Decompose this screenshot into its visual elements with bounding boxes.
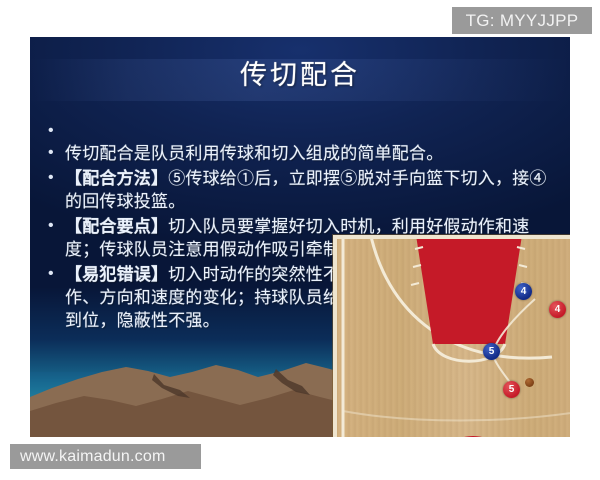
bullet-dot-icon: • <box>48 216 65 231</box>
bullet-text: 传切配合是队员利用传球和切入组成的简单配合。 <box>65 143 556 166</box>
bullet-text: 【配合方法】⑤传球给①后，立即摆⑤脱对手向篮下切入，接④的回传球投篮。 <box>65 168 556 214</box>
site-watermark: www.kaimadun.com <box>10 444 201 469</box>
bullet-dot-icon: • <box>48 264 65 279</box>
bullet-dot-icon: • <box>48 143 65 158</box>
court-markings-icon <box>337 239 570 437</box>
bullet-item: • <box>48 121 556 141</box>
basketball-court: 4 4 5 5 <box>337 239 570 437</box>
player-marker-red-4: 4 <box>549 301 566 318</box>
basketball-court-figure: 4 4 5 5 <box>333 235 570 437</box>
telegram-watermark: TG: MYYJJPP <box>452 7 592 34</box>
bullet-item: • 传切配合是队员利用传球和切入组成的简单配合。 <box>48 143 556 166</box>
bullet-item: • 【配合方法】⑤传球给①后，立即摆⑤脱对手向篮下切入，接④的回传球投篮。 <box>48 168 556 214</box>
player-marker-blue-4: 4 <box>515 283 532 300</box>
screenshot-root: TG: MYYJJPP 传切配合 • • 传切配合是队员利用传球和切入组成的简单… <box>0 0 600 480</box>
player-marker-blue-5: 5 <box>483 343 500 360</box>
basketball-icon <box>525 378 534 387</box>
bullet-lead-term: 【易犯错误】 <box>65 265 168 285</box>
slide-title: 传切配合 <box>30 53 570 92</box>
bullet-dot-icon: • <box>48 121 65 136</box>
bullet-text <box>65 121 556 141</box>
player-marker-red-5: 5 <box>503 381 520 398</box>
bullet-dot-icon: • <box>48 168 65 183</box>
bullet-lead-term: 【配合要点】 <box>65 217 168 237</box>
bullet-lead-term: 【配合方法】 <box>65 169 168 189</box>
presentation-slide: 传切配合 • • 传切配合是队员利用传球和切入组成的简单配合。 • 【配合方法】… <box>30 37 570 437</box>
